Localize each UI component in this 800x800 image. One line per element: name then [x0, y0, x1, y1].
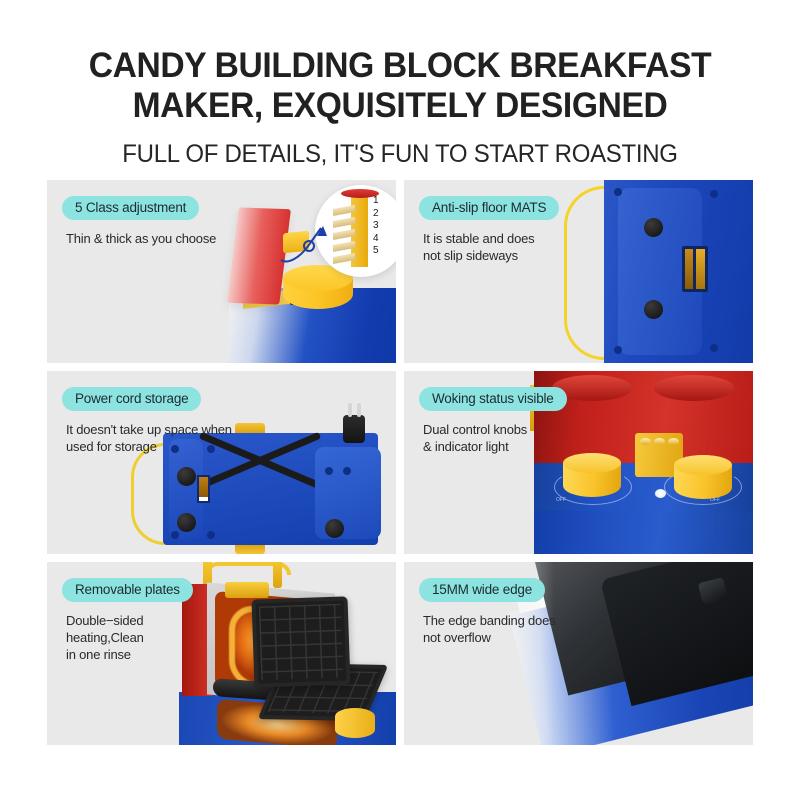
panel-badge: 15MM wide edge: [419, 578, 545, 602]
panel-caption: It is stable and does not slip sideways: [423, 230, 559, 264]
feature-panel-power-cord-storage: Power cord storage It doesn't take up sp…: [47, 371, 396, 554]
feature-grid: 1 2 3 4 5 5 Class adjustment Thin & thic…: [47, 180, 753, 764]
feature-panel-wide-edge: 15MM wide edge The edge banding does not…: [404, 562, 753, 745]
panel-caption: Double−sided heating,Clean in one rinse: [66, 612, 193, 663]
screw-hole: [710, 344, 718, 352]
pointer-arrow-icon: [277, 220, 337, 268]
rubber-foot: [177, 513, 196, 532]
screw-hole: [325, 467, 333, 475]
level-number: 2: [373, 208, 379, 221]
control-knob-right[interactable]: [674, 455, 732, 499]
lid-clip: [225, 582, 269, 598]
panel-badge: Woking status visible: [419, 387, 567, 411]
screw-hole: [614, 188, 622, 196]
screw-hole: [710, 190, 718, 198]
panel-badge: 5 Class adjustment: [62, 196, 199, 220]
level-number: 1: [373, 195, 379, 208]
panel-badge: Power cord storage: [62, 387, 201, 411]
level-number: 5: [373, 245, 379, 258]
rubber-foot: [644, 218, 663, 237]
screw-hole: [614, 346, 622, 354]
cord-channel: [682, 246, 708, 292]
panel-text-block: 5 Class adjustment Thin & thick as you c…: [62, 196, 216, 247]
control-knob-left[interactable]: [563, 453, 621, 497]
page-title-line-2: MAKER, EXQUISITELY DESIGNED: [16, 86, 784, 126]
plug-pin: [348, 403, 352, 417]
dial-label-off: OFF: [556, 497, 566, 503]
level-number: 4: [373, 233, 379, 246]
handle-arm: [273, 562, 282, 588]
feature-panel-class-adjustment: 1 2 3 4 5 5 Class adjustment Thin & thic…: [47, 180, 396, 363]
block-stud: [654, 375, 734, 401]
rubber-foot: [177, 467, 196, 486]
feature-panel-working-status: OFF OFF Woking status visible Dual contr…: [404, 371, 753, 554]
level-number-list: 1 2 3 4 5: [373, 195, 379, 258]
power-plug: [343, 415, 365, 443]
panel-text-block: Anti-slip floor MATS It is stable and do…: [419, 196, 559, 264]
indicator-light: [655, 489, 666, 498]
panel-text-block: Power cord storage It doesn't take up sp…: [62, 387, 232, 455]
screw-hole: [343, 467, 351, 475]
plug-pin: [357, 403, 361, 417]
panel-text-block: Woking status visible Dual control knobs…: [419, 387, 567, 455]
cord-channel: [197, 475, 210, 503]
panel-caption: Thin & thick as you choose: [66, 230, 216, 247]
page-header: CANDY BUILDING BLOCK BREAKFAST MAKER, EX…: [0, 46, 800, 168]
infographic-page: CANDY BUILDING BLOCK BREAKFAST MAKER, EX…: [0, 0, 800, 800]
panel-badge: Removable plates: [62, 578, 193, 602]
yellow-knob: [335, 708, 375, 738]
panel-text-block: 15MM wide edge The edge banding does not…: [419, 578, 555, 646]
panel-text-block: Removable plates Double−sided heating,Cl…: [62, 578, 193, 663]
panel-caption: Dual control knobs & indicator light: [423, 421, 567, 455]
screw-hole: [171, 531, 179, 539]
panel-badge: Anti-slip floor MATS: [419, 196, 559, 220]
panel-caption: It doesn't take up space when used for s…: [66, 421, 232, 455]
waffle-plate-upper: [251, 596, 350, 687]
page-subtitle: FULL OF DETAILS, IT'S FUN TO START ROAST…: [16, 140, 784, 168]
screw-hole: [207, 531, 215, 539]
rubber-foot: [644, 300, 663, 319]
feature-panel-anti-slip-mats: Anti-slip floor MATS It is stable and do…: [404, 180, 753, 363]
feature-panel-removable-plates: Removable plates Double−sided heating,Cl…: [47, 562, 396, 745]
panel-caption: The edge banding does not overflow: [423, 612, 555, 646]
rubber-foot: [325, 519, 344, 538]
page-title-line-1: CANDY BUILDING BLOCK BREAKFAST: [16, 46, 784, 86]
level-number: 3: [373, 220, 379, 233]
